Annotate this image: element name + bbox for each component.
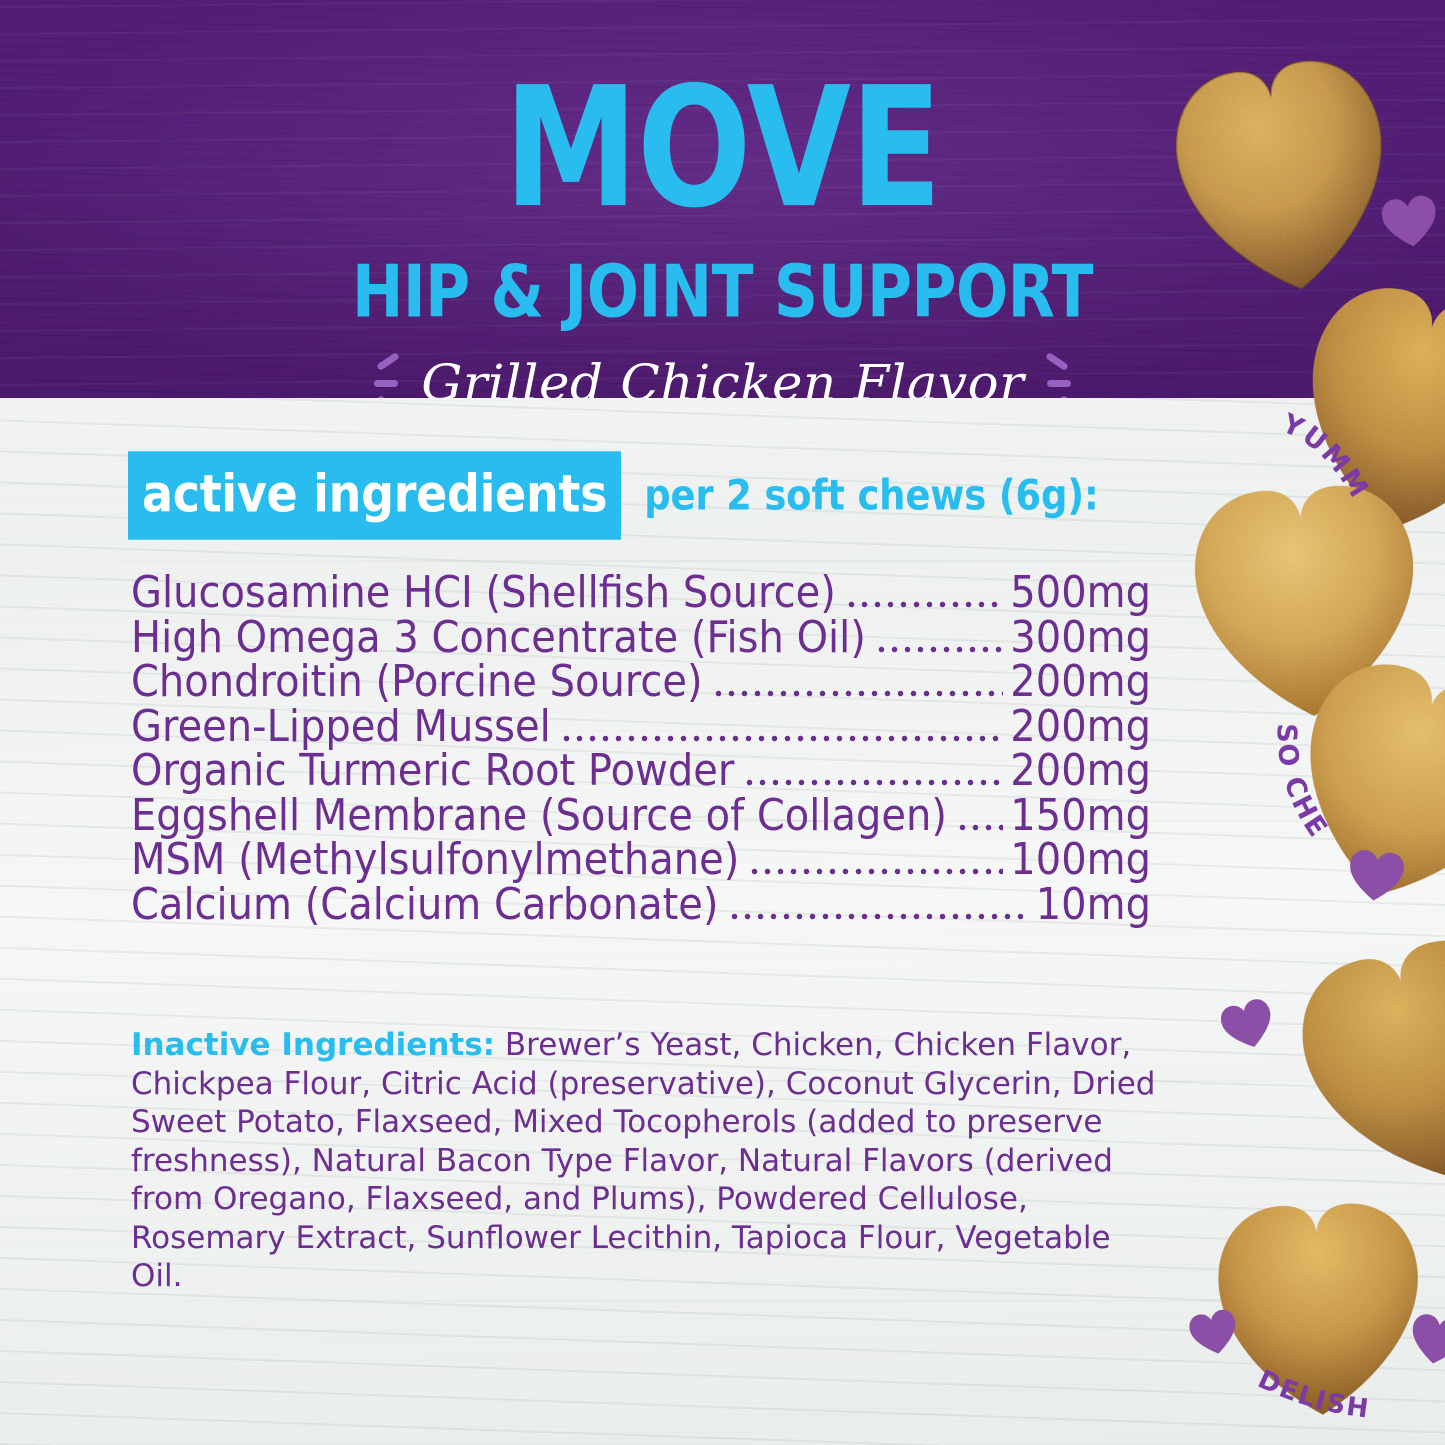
- burst-dashes-right-icon: [1037, 352, 1071, 398]
- serving-note: per 2 soft chews (6g):: [644, 471, 1098, 519]
- ingredient-row: Eggshell Membrane (Source of Collagen) 1…: [131, 796, 1151, 841]
- ingredient-amount: 200mg: [1010, 703, 1151, 751]
- flavor-row: Grilled Chicken Flavor: [0, 352, 1445, 398]
- ingredient-name: Glucosamine HCI (Shellfish Source): [131, 569, 836, 617]
- ingredient-amount: 300mg: [1010, 614, 1151, 662]
- ingredient-name: Organic Turmeric Root Powder: [131, 747, 734, 795]
- ingredient-name: Green-Lipped Mussel: [131, 703, 551, 751]
- ingredient-amount: 200mg: [1010, 747, 1151, 795]
- ingredient-name: High Omega 3 Concentrate (Fish Oil): [131, 614, 866, 662]
- dot-leader: [748, 868, 1003, 875]
- ingredient-row: Calcium (Calcium Carbonate) 10mg: [131, 885, 1151, 930]
- active-ingredients-badge: active ingredients: [128, 451, 621, 539]
- ingredient-amount: 500mg: [1010, 569, 1151, 617]
- dot-leader: [956, 824, 1003, 831]
- ingredient-row: Chondroitin (Porcine Source) 200mg: [131, 662, 1151, 707]
- ingredient-row: Organic Turmeric Root Powder 200mg: [131, 751, 1151, 796]
- mini-heart-icon: [1216, 994, 1280, 1056]
- ingredient-row: Green-Lipped Mussel 200mg: [131, 707, 1151, 752]
- dot-leader: [728, 913, 1029, 920]
- mini-heart-icon: [1379, 192, 1442, 251]
- dot-leader: [845, 601, 1003, 608]
- inactive-ingredients-label: Inactive Ingredients:: [131, 1027, 495, 1063]
- ingredient-amount: 200mg: [1010, 658, 1151, 706]
- dot-leader: [875, 646, 1003, 653]
- active-ingredients-heading: active ingredients per 2 soft chews (6g)…: [128, 456, 1099, 535]
- ingredient-name: Calcium (Calcium Carbonate): [131, 881, 719, 929]
- ingredient-row: MSM (Methylsulfonylmethane) 100mg: [131, 840, 1151, 885]
- ingredient-row: Glucosamine HCI (Shellfish Source) 500mg: [131, 573, 1151, 618]
- flavor-label: Grilled Chicken Flavor: [421, 354, 1024, 398]
- callout-so-chewy: SO CHEWY!: [1256, 700, 1426, 880]
- chew-treat-icon: [1275, 905, 1445, 1210]
- callout-delish: DELISH!: [1248, 1368, 1438, 1445]
- burst-dashes-left-icon: [374, 352, 408, 398]
- inactive-ingredients-block: Inactive Ingredients: Brewer’s Yeast, Ch…: [131, 1026, 1166, 1296]
- mini-heart-icon: [1186, 1306, 1243, 1361]
- dot-leader: [743, 779, 1003, 786]
- dot-leader: [560, 735, 1004, 742]
- ingredient-amount: 150mg: [1010, 792, 1151, 840]
- ingredient-name: Chondroitin (Porcine Source): [131, 658, 703, 706]
- ingredient-amount: 10mg: [1036, 881, 1151, 929]
- ingredient-name: Eggshell Membrane (Source of Collagen): [131, 792, 947, 840]
- active-ingredients-list: Glucosamine HCI (Shellfish Source) 500mg…: [131, 573, 1151, 929]
- product-label-panel: MOVE HIP & JOINT SUPPORT Grilled Chicken…: [0, 0, 1445, 1445]
- inactive-ingredients-text: Brewer’s Yeast, Chicken, Chicken Flavor,…: [131, 1027, 1155, 1294]
- ingredient-row: High Omega 3 Concentrate (Fish Oil) 300m…: [131, 618, 1151, 663]
- dot-leader: [712, 690, 1004, 697]
- callout-yumm: YUMM!: [1270, 412, 1430, 532]
- ingredient-name: MSM (Methylsulfonylmethane): [131, 836, 739, 884]
- ingredient-amount: 100mg: [1010, 836, 1151, 884]
